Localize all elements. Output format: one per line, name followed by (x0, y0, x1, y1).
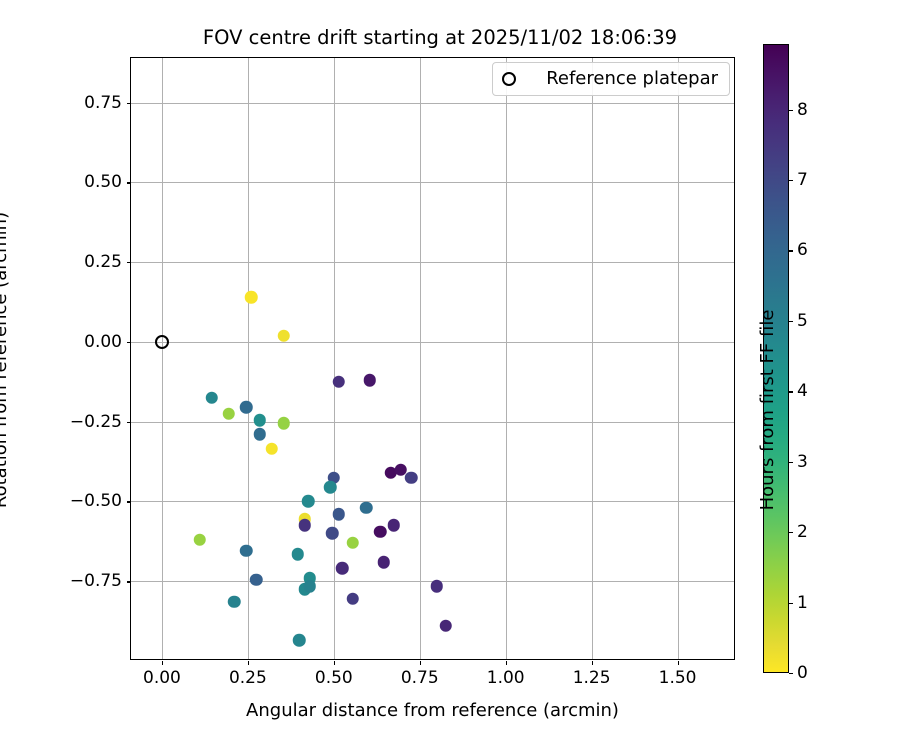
colorbar-tick-label: 4 (797, 381, 808, 401)
y-tick (127, 262, 131, 263)
scatter-point (291, 548, 304, 561)
gridline-vertical (506, 58, 507, 659)
gridline-vertical (162, 58, 163, 659)
gridline-vertical (334, 58, 335, 659)
y-tick (127, 182, 131, 183)
colorbar-tick (789, 532, 793, 533)
x-tick-label: 0.25 (229, 668, 267, 688)
x-tick (420, 661, 421, 665)
plot-area (131, 58, 734, 659)
x-tick-label: 1.00 (487, 668, 525, 688)
colorbar-tick-label: 0 (797, 663, 808, 683)
open-circle-marker-icon (502, 72, 516, 86)
scatter-point (431, 580, 444, 593)
colorbar-tick-label: 8 (797, 100, 808, 120)
page-title: FOV centre drift starting at 2025/11/02 … (130, 26, 750, 50)
scatter-point (364, 374, 377, 387)
colorbar-tick-label: 7 (797, 170, 808, 190)
x-axis-label: Angular distance from reference (arcmin) (130, 700, 735, 722)
scatter-point (278, 417, 291, 430)
scatter-point (302, 495, 315, 508)
gridline-vertical (678, 58, 679, 659)
scatter-point (439, 620, 452, 633)
y-tick (127, 422, 131, 423)
x-tick (506, 661, 507, 665)
scatter-point (333, 508, 346, 521)
colorbar-tick (789, 603, 793, 604)
legend-entry-label: Reference platepar (546, 68, 718, 90)
y-tick-label: 0.00 (84, 332, 122, 352)
colorbar-tick-label: 1 (797, 593, 808, 613)
x-tick-label: 1.50 (659, 668, 697, 688)
scatter-point (324, 481, 337, 494)
y-tick-label: 0.75 (84, 93, 122, 113)
scatter-point (240, 401, 253, 414)
x-tick-label: 1.25 (573, 668, 611, 688)
figure-canvas: FOV centre drift starting at 2025/11/02 … (0, 0, 900, 750)
scatter-point (388, 519, 401, 532)
colorbar-tick-label: 3 (797, 452, 808, 472)
y-tick (127, 501, 131, 502)
x-tick-label: 0.50 (315, 668, 353, 688)
colorbar-tick-label: 6 (797, 240, 808, 260)
colorbar-tick (789, 673, 793, 674)
y-tick (127, 103, 131, 104)
colorbar-tick (789, 180, 793, 181)
y-axis-label: Rotation from reference (arcmin) (0, 160, 12, 560)
gridline-vertical (592, 58, 593, 659)
scatter-point (298, 519, 311, 532)
scatter-point (336, 562, 349, 575)
scatter-point (266, 443, 279, 456)
gridline-horizontal (131, 182, 734, 183)
x-tick-label: 0.00 (143, 668, 181, 688)
y-tick-label: −0.25 (70, 412, 122, 432)
x-tick (592, 661, 593, 665)
x-tick-label: 0.75 (401, 668, 439, 688)
scatter-point (346, 593, 359, 606)
x-tick (678, 661, 679, 665)
colorbar-tick (789, 321, 793, 322)
gridline-vertical (420, 58, 421, 659)
gridline-vertical (248, 58, 249, 659)
y-tick-label: −0.75 (70, 571, 122, 591)
colorbar-tick-label: 2 (797, 522, 808, 542)
y-tick (127, 342, 131, 343)
scatter-point (304, 580, 317, 593)
colorbar-label: Hours from first FF file (757, 200, 779, 620)
scatter-point (293, 634, 306, 647)
gridline-horizontal (131, 422, 734, 423)
scatter-point (377, 556, 390, 569)
scatter-point (374, 526, 387, 539)
y-tick-label: −0.50 (70, 491, 122, 511)
reference-platepar-marker (155, 335, 169, 349)
scatter-point (254, 428, 267, 441)
colorbar-tick (789, 250, 793, 251)
scatter-point (254, 414, 267, 427)
gridline-horizontal (131, 501, 734, 502)
gridline-horizontal (131, 103, 734, 104)
scatter-point (346, 537, 359, 550)
scatter-point (333, 376, 346, 389)
scatter-point (278, 329, 291, 342)
scatter-point (405, 471, 418, 484)
colorbar-tick-label: 5 (797, 311, 808, 331)
scatter-point (360, 502, 373, 515)
scatter-point (194, 534, 207, 547)
x-tick (162, 661, 163, 665)
y-tick (127, 581, 131, 582)
y-tick-label: 0.50 (84, 172, 122, 192)
gridline-horizontal (131, 342, 734, 343)
plot-axes: Reference platepar 0.000.250.500.751.001… (130, 57, 735, 660)
scatter-point (250, 573, 263, 586)
colorbar-tick (789, 391, 793, 392)
colorbar-tick (789, 110, 793, 111)
gridline-horizontal (131, 262, 734, 263)
scatter-point (240, 545, 253, 558)
scatter-point (245, 291, 258, 304)
legend[interactable]: Reference platepar (492, 62, 730, 96)
scatter-point (206, 392, 219, 405)
y-tick-label: 0.25 (84, 252, 122, 272)
x-tick (248, 661, 249, 665)
scatter-point (223, 407, 236, 420)
scatter-point (326, 527, 339, 540)
x-tick (334, 661, 335, 665)
scatter-point (228, 596, 241, 609)
colorbar-tick (789, 462, 793, 463)
